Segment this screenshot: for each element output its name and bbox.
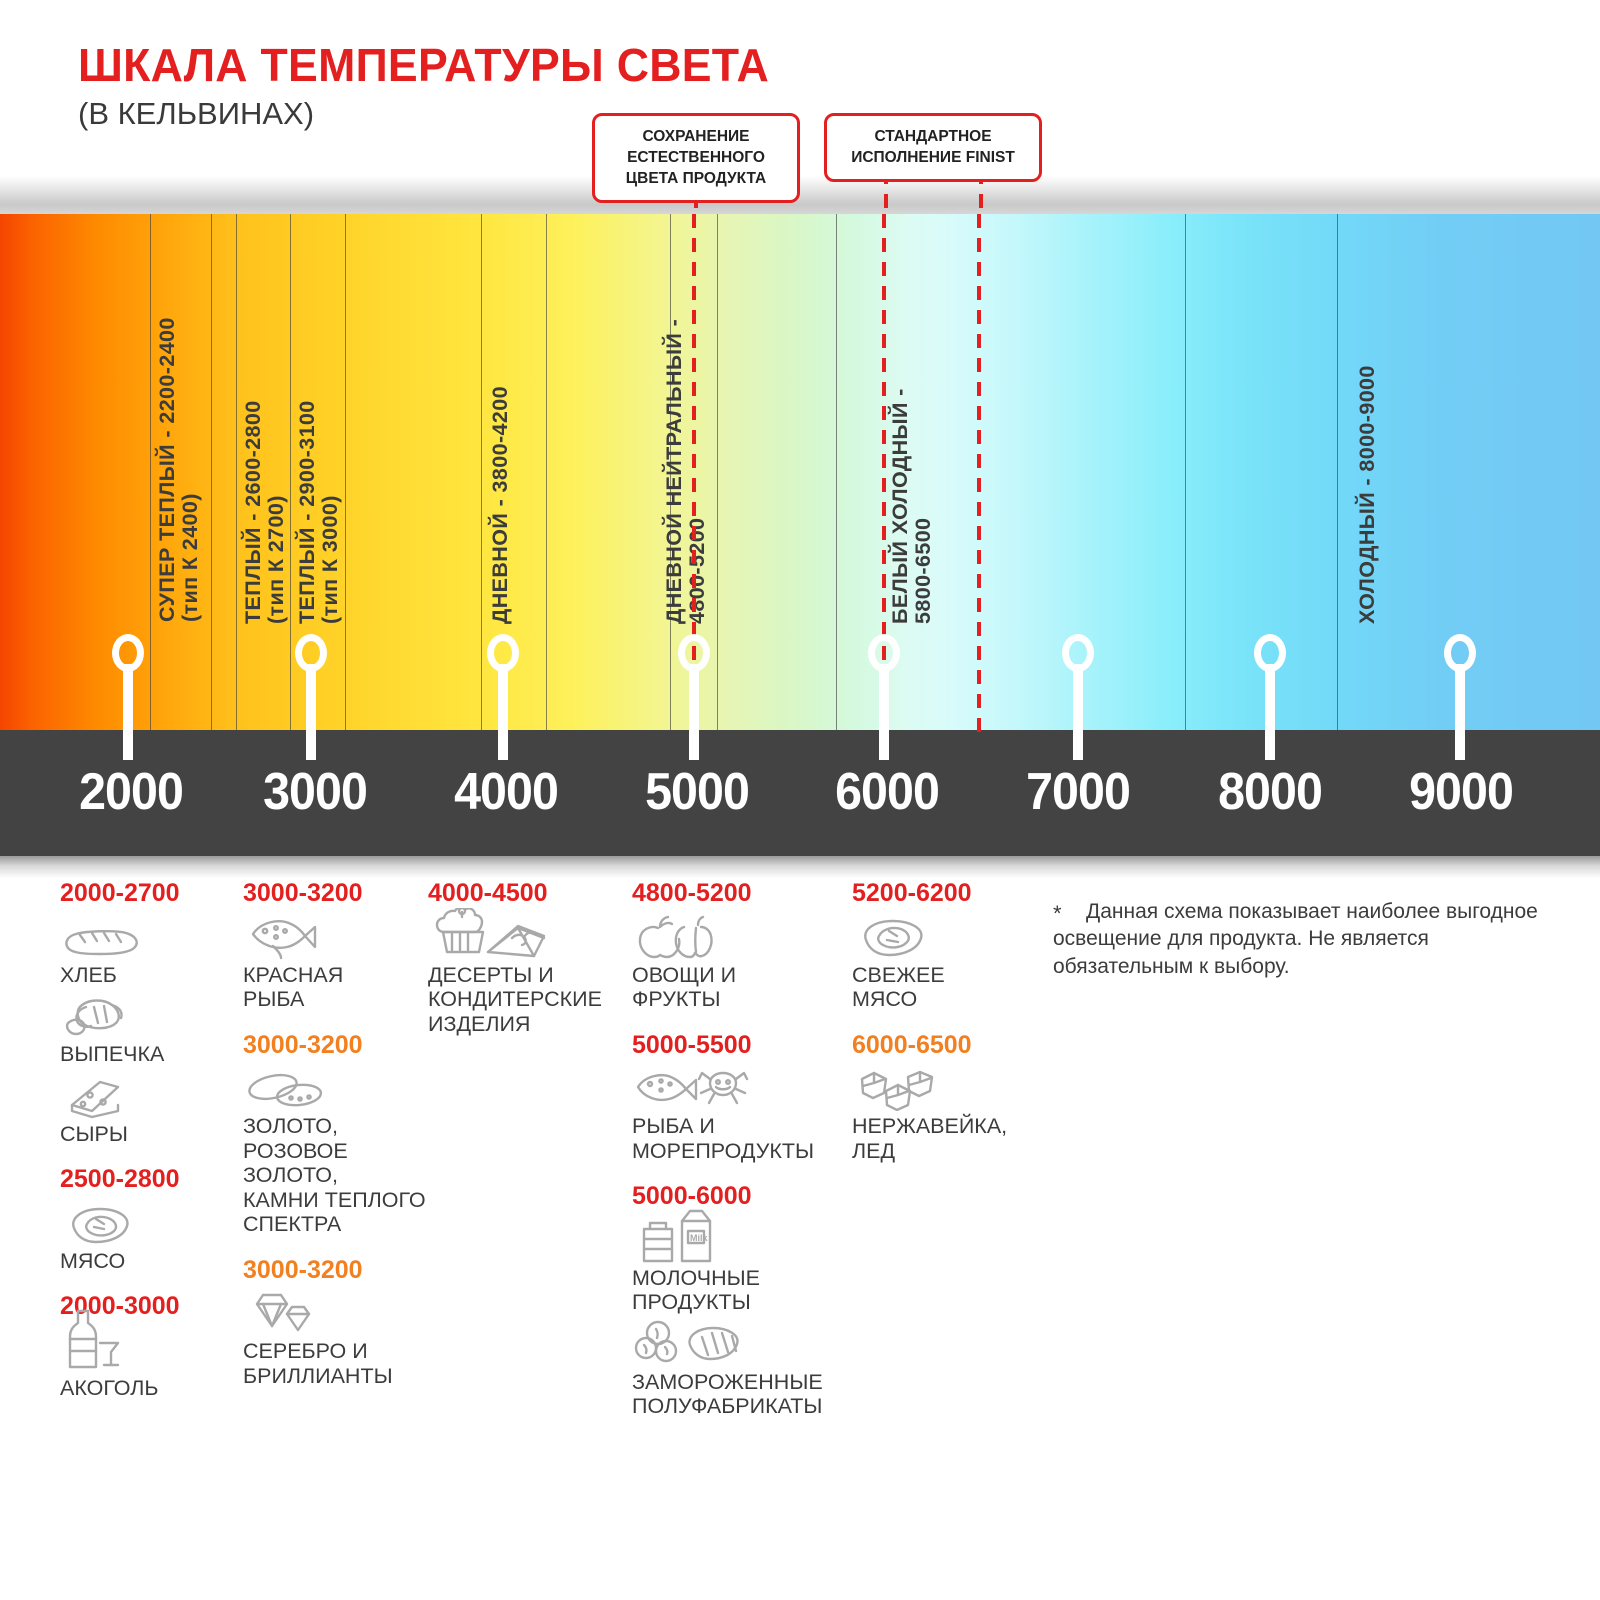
frozen-food-icon [632,1319,847,1367]
legend-column: 2000-2700ХЛЕБВЫПЕЧКАСЫРЫ2500-2800МЯСО200… [60,880,240,1420]
band-label-warm-2700: ТЕПЛЫЙ - 2600-2800 (тип К 2700) [242,344,288,624]
tick-label-9000: 9000 [1409,762,1513,822]
callout-preserve-natural-color: СОХРАНЕНИЕ ЕСТЕСТВЕННОГО ЦВЕТА ПРОДУКТА [592,113,800,203]
steak-icon [60,1198,240,1246]
footnote-text: Данная схема показывает наиболее выгодно… [1053,900,1538,978]
marker-stem [306,664,316,760]
tick-label-4000: 4000 [454,762,558,822]
legend-item: СЕРЕБРО И БРИЛЛИАНТЫ [243,1288,433,1388]
band-divider [717,214,718,732]
legend-range-label: 3000-3200 [243,1257,433,1285]
legend-group: 3000-3200ЗОЛОТО, РОЗОВОЕ ЗОЛОТО, КАМНИ Т… [243,1032,433,1237]
band-divider [481,214,482,732]
legend-item-label: ВЫПЕЧКА [60,1042,240,1067]
legend-item-label: НЕРЖАВЕЙКА, ЛЕД [852,1114,1037,1163]
legend-group: 4000-4500ДЕСЕРТЫ И КОНДИТЕРСКИЕ ИЗДЕЛИЯ [428,880,628,1036]
fish-icon [243,912,433,960]
band-divider [546,214,547,732]
legend-range-label: 6000-6500 [852,1032,1037,1060]
seafood-icon [632,1063,847,1111]
legend-item-label: ДЕСЕРТЫ И КОНДИТЕРСКИЕ ИЗДЕЛИЯ [428,963,628,1037]
tick-label-5000: 5000 [645,762,749,822]
legend-group: 4800-5200ОВОЩИ И ФРУКТЫ [632,880,847,1012]
legend-range-label: 5000-5500 [632,1032,847,1060]
legend-range-label: 3000-3200 [243,1032,433,1060]
legend-item-label: СВЕЖЕЕ МЯСО [852,963,1037,1012]
fresh-meat-icon [852,912,1037,960]
marker-stem [123,664,133,760]
strip-top-shadow [0,176,1600,214]
rings-icon [243,1063,433,1111]
legend-item: ЗОЛОТО, РОЗОВОЕ ЗОЛОТО, КАМНИ ТЕПЛОГО СП… [243,1063,433,1237]
legend-item: АКОГОЛЬ [60,1325,240,1401]
band-label-white-cold: БЕЛЫЙ ХОЛОДНЫЙ - 5800-6500 [889,314,935,624]
red-marker-line-6500 [977,214,981,732]
legend-column: 5200-6200СВЕЖЕЕ МЯСО6000-6500НЕРЖАВЕЙКА,… [852,880,1037,1183]
legend-range-label: 2000-2700 [60,880,240,908]
legend-item-label: ЗОЛОТО, РОЗОВОЕ ЗОЛОТО, КАМНИ ТЕПЛОГО СП… [243,1114,433,1237]
legend-group: 2500-2800МЯСО [60,1166,240,1273]
legend-item: ВЫПЕЧКА [60,991,240,1067]
legend-column: 4000-4500ДЕСЕРТЫ И КОНДИТЕРСКИЕ ИЗДЕЛИЯ [428,880,628,1056]
legend-item-label: МОЛОЧНЫЕ ПРОДУКТЫ [632,1266,847,1315]
tick-label-6000: 6000 [835,762,939,822]
band-label-super-warm: СУПЕР ТЕПЛЫЙ - 2200-2400 (тип К 2400) [156,242,202,622]
page-subtitle: (В КЕЛЬВИНАХ) [78,96,314,132]
band-divider [1337,214,1338,732]
product-legend: 2000-2700ХЛЕБВЫПЕЧКАСЫРЫ2500-2800МЯСО200… [0,880,1600,1600]
alcohol-icon [60,1325,240,1373]
fruit-vegetable-icon [632,912,847,960]
legend-item: КРАСНАЯ РЫБА [243,912,433,1012]
legend-item: НЕРЖАВЕЙКА, ЛЕД [852,1063,1037,1163]
legend-item: ОВОЩИ И ФРУКТЫ [632,912,847,1012]
tick-label-7000: 7000 [1026,762,1130,822]
croissant-icon [60,991,240,1039]
legend-item: РЫБА И МОРЕПРОДУКТЫ [632,1063,847,1163]
band-label-cold: ХОЛОДНЫЙ - 8000-9000 [1356,309,1379,624]
legend-item: СЫРЫ [60,1071,240,1147]
dessert-icon [428,912,628,960]
legend-item: ЗАМОРОЖЕННЫЕ ПОЛУФАБРИКАТЫ [632,1319,847,1419]
legend-item: МЯСО [60,1198,240,1274]
kelvin-gradient-strip: СУПЕР ТЕПЛЫЙ - 2200-2400 (тип К 2400) ТЕ… [0,214,1600,732]
legend-column: 4800-5200ОВОЩИ И ФРУКТЫ5000-5500РЫБА И М… [632,880,847,1439]
legend-range-label: 4800-5200 [632,880,847,908]
band-divider [290,214,291,732]
kelvin-axis-bar [0,730,1600,856]
legend-item: СВЕЖЕЕ МЯСО [852,912,1037,1012]
legend-group: 5000-6000MilkМОЛОЧНЫЕ ПРОДУКТЫЗАМОРОЖЕНН… [632,1183,847,1419]
legend-item-label: РЫБА И МОРЕПРОДУКТЫ [632,1114,847,1163]
legend-item-label: МЯСО [60,1249,240,1274]
legend-item-label: ОВОЩИ И ФРУКТЫ [632,963,847,1012]
band-divider [236,214,237,732]
legend-range-label: 5200-6200 [852,880,1037,908]
page-title: ШКАЛА ТЕМПЕРАТУРЫ СВЕТА [78,38,769,92]
marker-stem [498,664,508,760]
legend-range-label: 3000-3200 [243,880,433,908]
infographic-root: ШКАЛА ТЕМПЕРАТУРЫ СВЕТА (В КЕЛЬВИНАХ) СО… [0,0,1600,1600]
marker-stem [879,664,889,760]
legend-item: MilkМОЛОЧНЫЕ ПРОДУКТЫ [632,1215,847,1315]
footnote-asterisk: * [1053,900,1062,929]
legend-group: 5200-6200СВЕЖЕЕ МЯСО [852,880,1037,1012]
legend-item-label: СЫРЫ [60,1122,240,1147]
legend-group: 5000-5500РЫБА И МОРЕПРОДУКТЫ [632,1032,847,1164]
footnote: * Данная схема показывает наиболее выгод… [1053,898,1553,980]
milk-icon: Milk [632,1215,847,1263]
axis-bottom-shadow [0,856,1600,878]
marker-stem [1455,664,1465,760]
tick-label-3000: 3000 [263,762,367,822]
band-divider [1185,214,1186,732]
marker-stem [689,664,699,760]
legend-group: 2000-2700ХЛЕБВЫПЕЧКАСЫРЫ [60,880,240,1146]
cheese-icon [60,1071,240,1119]
legend-group: 3000-3200СЕРЕБРО И БРИЛЛИАНТЫ [243,1257,433,1389]
band-label-warm-3000: ТЕПЛЫЙ - 2900-3100 (тип К 3000) [296,344,342,624]
legend-item-label: СЕРЕБРО И БРИЛЛИАНТЫ [243,1339,433,1388]
ice-cubes-icon [852,1063,1037,1111]
callout-standard-finist: СТАНДАРТНОЕ ИСПОЛНЕНИЕ FINIST [824,113,1042,182]
tick-label-2000: 2000 [79,762,183,822]
legend-item: ХЛЕБ [60,912,240,988]
legend-range-label: 4000-4500 [428,880,628,908]
marker-stem [1073,664,1083,760]
band-divider [345,214,346,732]
bread-icon [60,912,240,960]
marker-stem [1265,664,1275,760]
band-divider [211,214,212,732]
band-label-daylight-neutral: ДНЕВНОЙ НЕЙТРАЛЬНЫЙ - 4800-5200 [663,234,709,624]
band-divider [150,214,151,732]
legend-group: 3000-3200КРАСНАЯ РЫБА [243,880,433,1012]
band-label-daylight: ДНЕВНОЙ - 3800-4200 [489,324,512,624]
legend-group: 2000-3000АКОГОЛЬ [60,1293,240,1400]
legend-group: 6000-6500НЕРЖАВЕЙКА, ЛЕД [852,1032,1037,1164]
tick-label-8000: 8000 [1218,762,1322,822]
legend-item-label: ХЛЕБ [60,963,240,988]
band-divider [836,214,837,732]
legend-item: ДЕСЕРТЫ И КОНДИТЕРСКИЕ ИЗДЕЛИЯ [428,912,628,1037]
legend-item-label: ЗАМОРОЖЕННЫЕ ПОЛУФАБРИКАТЫ [632,1370,847,1419]
legend-column: 3000-3200КРАСНАЯ РЫБА3000-3200ЗОЛОТО, РО… [243,880,433,1408]
svg-text:Milk: Milk [690,1233,708,1243]
legend-item-label: КРАСНАЯ РЫБА [243,963,433,1012]
diamond-icon [243,1288,433,1336]
legend-item-label: АКОГОЛЬ [60,1376,240,1401]
legend-range-label: 2500-2800 [60,1166,240,1194]
